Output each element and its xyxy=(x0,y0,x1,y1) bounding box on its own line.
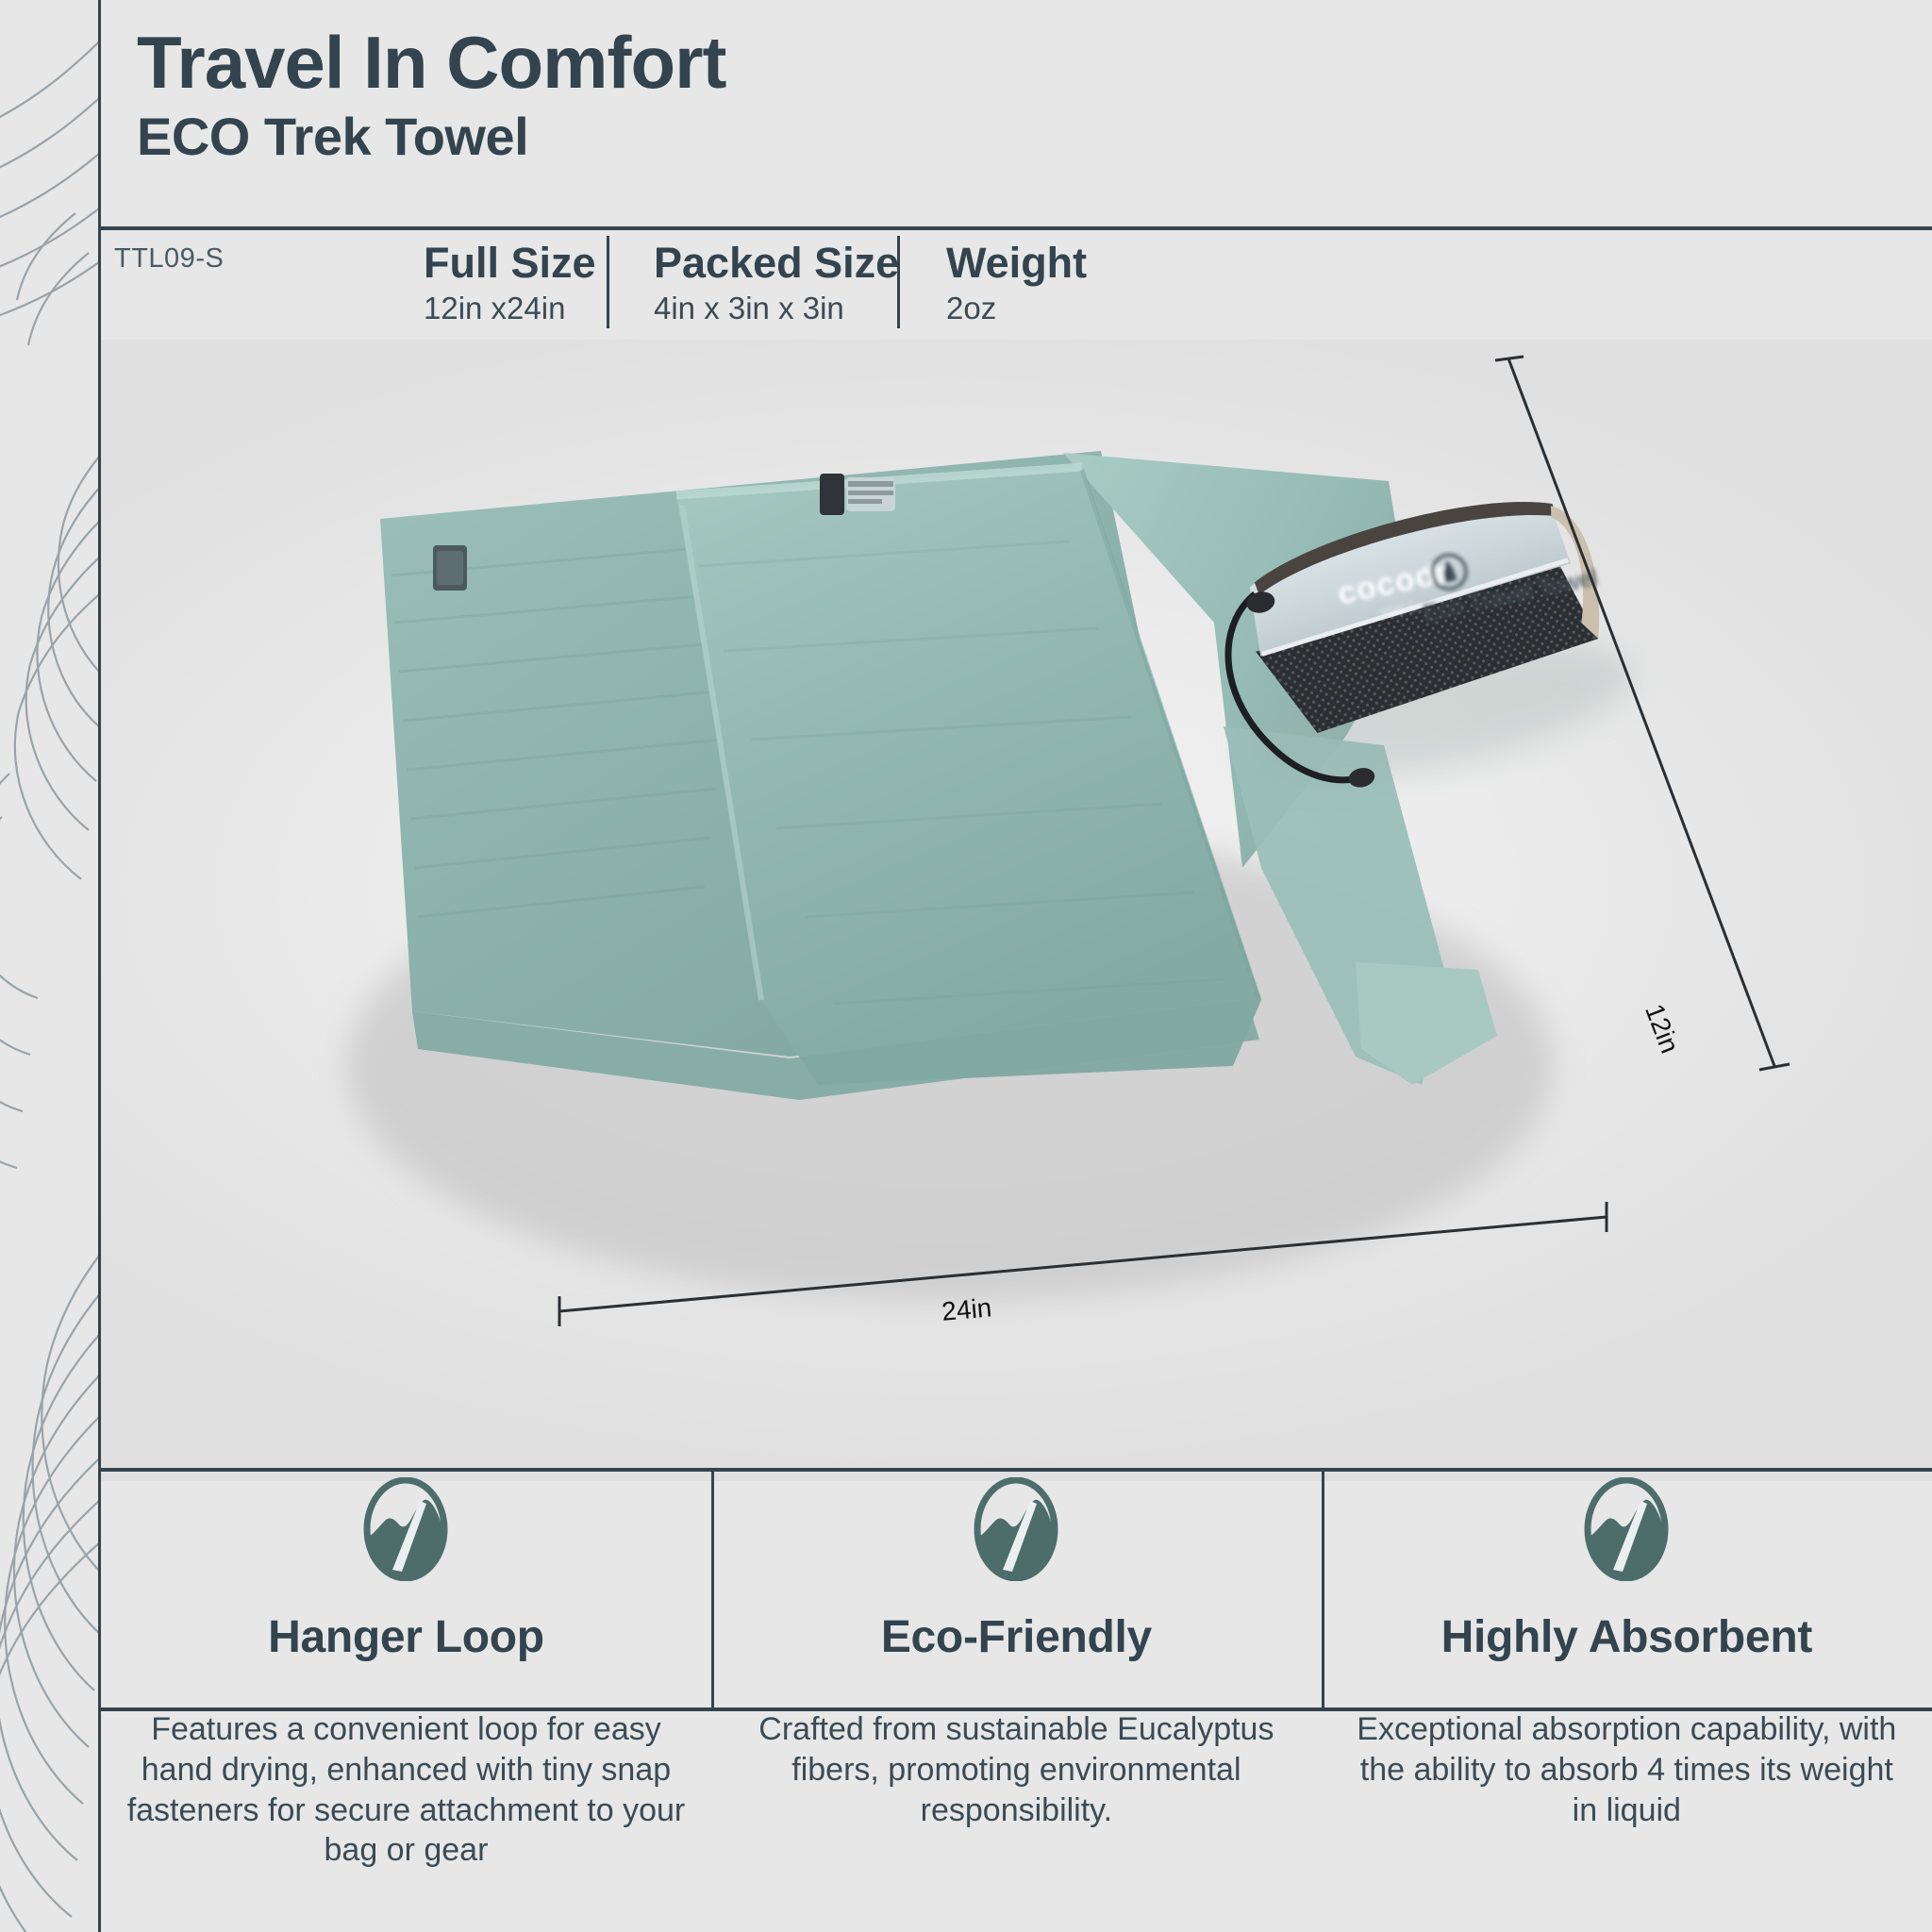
feature-hanger-loop: Hanger Loop Features a convenient loop f… xyxy=(101,1468,711,1932)
spec-sku: TTL09-S xyxy=(114,243,224,347)
feature-title-hanger-loop: Hanger Loop xyxy=(101,1611,711,1663)
features-section: Hanger Loop Features a convenient loop f… xyxy=(101,1468,1932,1932)
mountain-icon xyxy=(360,1477,451,1581)
feature-highly-absorbent: Highly Absorbent Exceptional absorption … xyxy=(1322,1468,1932,1932)
spec-full-size: Full Size 12in x24in xyxy=(424,241,596,345)
topo-lines-svg xyxy=(0,0,98,1932)
spec-full-size-value: 12in x24in xyxy=(424,289,596,327)
feature-title-highly-absorbent: Highly Absorbent xyxy=(1322,1611,1932,1663)
feature-eco-friendly: Eco-Friendly Crafted from sustainable Eu… xyxy=(711,1468,1322,1932)
page-title: Travel In Comfort xyxy=(137,25,725,102)
spec-weight-value: 2oz xyxy=(946,289,1087,327)
page-subtitle: ECO Trek Towel xyxy=(137,108,725,166)
spec-packed-size-value: 4in x 3in x 3in xyxy=(654,289,899,327)
product-image: cocoon ® size L Eco Travel Towel xyxy=(101,340,1932,1481)
feature-body-highly-absorbent: Exceptional absorption capability, with … xyxy=(1322,1709,1932,1830)
product-photo-svg: cocoon ® size L Eco Travel Towel xyxy=(101,340,1932,1481)
towel-hanger-loop xyxy=(820,474,895,515)
feature-title-eco-friendly: Eco-Friendly xyxy=(711,1611,1322,1663)
spec-weight-label: Weight xyxy=(946,241,1087,285)
spec-packed-size: Packed Size 4in x 3in x 3in xyxy=(654,241,899,345)
towel-brand-tag xyxy=(433,545,467,591)
dimension-label-width: 24in xyxy=(941,1292,993,1326)
spec-weight: Weight 2oz xyxy=(946,241,1087,345)
mountain-icon xyxy=(1581,1477,1672,1581)
spec-full-size-label: Full Size xyxy=(424,241,596,285)
header: Travel In Comfort ECO Trek Towel xyxy=(137,25,725,165)
feature-body-eco-friendly: Crafted from sustainable Eucalyptus fibe… xyxy=(711,1709,1322,1830)
mountain-icon xyxy=(971,1477,1061,1581)
spec-packed-size-label: Packed Size xyxy=(654,241,899,285)
spec-divider-1 xyxy=(607,236,609,328)
spec-row: TTL09-S Full Size 12in x24in Packed Size… xyxy=(101,230,1932,334)
topographic-pattern-strip xyxy=(0,0,98,1932)
feature-body-hanger-loop: Features a convenient loop for easy hand… xyxy=(101,1709,711,1871)
